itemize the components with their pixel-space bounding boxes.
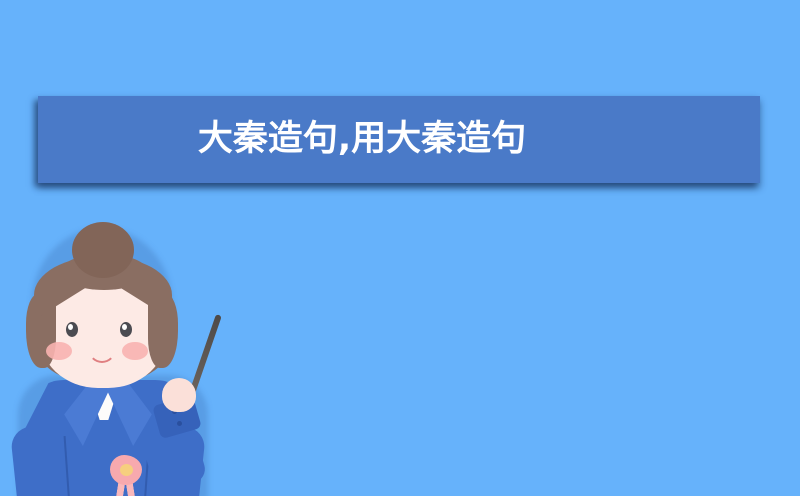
hair-bun — [72, 222, 134, 278]
blush-right — [122, 342, 148, 360]
eye-shine-left — [68, 324, 73, 330]
eye-shine-right — [122, 324, 127, 330]
cuff-button-icon — [177, 421, 182, 426]
ribbon-badge-icon — [108, 455, 144, 496]
title-banner: 大秦造句,用大秦造句 — [38, 96, 760, 183]
hand — [162, 378, 196, 412]
page-title: 大秦造句,用大秦造句 — [198, 122, 526, 157]
blush-left — [46, 342, 72, 360]
badge-center — [120, 464, 133, 476]
teacher-illustration — [0, 210, 260, 496]
page-root: 大秦造句,用大秦造句 — [0, 0, 800, 496]
